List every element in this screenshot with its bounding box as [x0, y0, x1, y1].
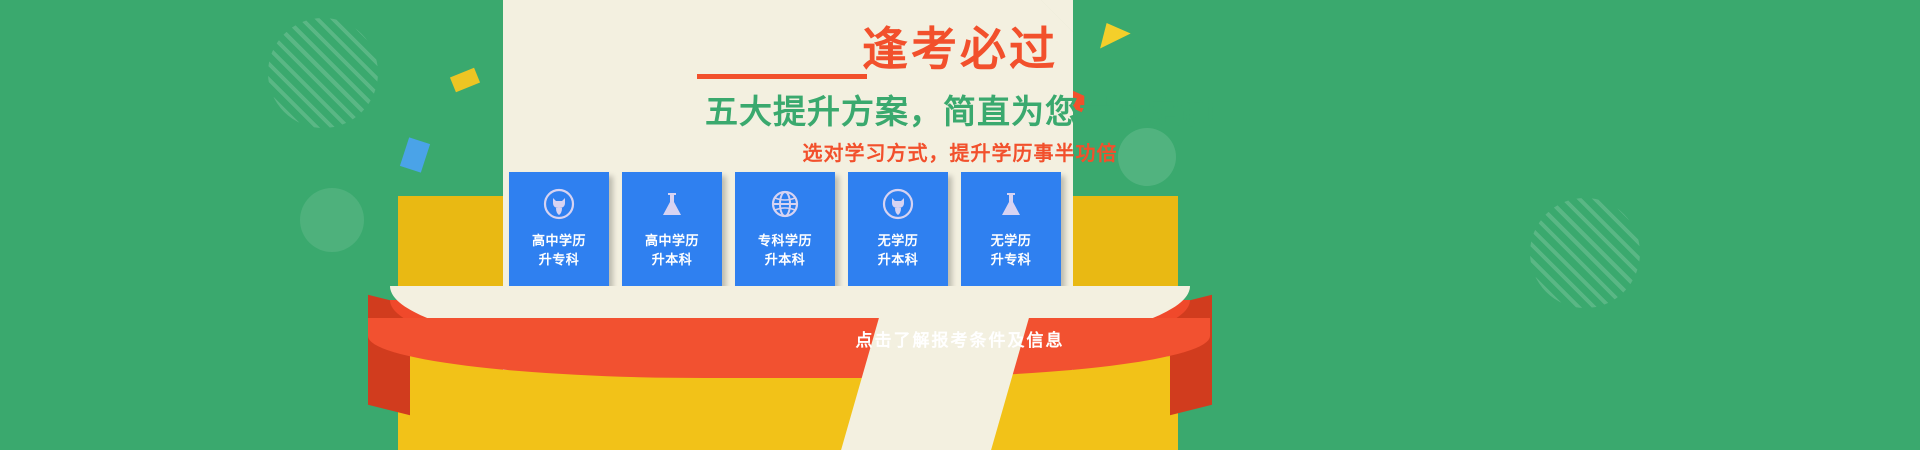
flask-icon [656, 188, 688, 220]
subtitle: 五大提升方案，简直为您量身定制 [0, 92, 1920, 132]
card-label-line2: 升专科 [991, 251, 1032, 270]
card-label-line2: 升本科 [758, 251, 812, 270]
card-label-line1: 无学历 [991, 232, 1032, 251]
card-label-line2: 升本科 [878, 251, 919, 270]
card-label-line2: 升专科 [532, 251, 586, 270]
program-card[interactable]: 高中学历 升专科 [509, 172, 609, 287]
program-card[interactable]: 专科学历 升本科 [735, 172, 835, 287]
program-card[interactable]: 无学历 升本科 [848, 172, 948, 287]
cat-icon [882, 188, 914, 220]
title-underline [697, 74, 867, 79]
promo-banner: 逢考必过 五大提升方案，简直为您量身定制 选对学习方式，提升学历事半功倍 高中学… [0, 0, 1920, 450]
globe-icon [769, 188, 801, 220]
page-title: 逢考必过 [0, 26, 1920, 72]
program-card[interactable]: 无学历 升专科 [961, 172, 1061, 287]
flask-icon [995, 188, 1027, 220]
solid-circle-decoration [300, 188, 364, 252]
tagline: 选对学习方式，提升学历事半功倍 [0, 137, 1920, 166]
card-label-line1: 专科学历 [758, 232, 812, 251]
program-card-list: 高中学历 升专科 高中学历 升本科 [509, 172, 1061, 287]
card-label-line1: 高中学历 [532, 232, 586, 251]
striped-circle-decoration [1530, 198, 1640, 308]
program-card[interactable]: 高中学历 升本科 [622, 172, 722, 287]
card-label-line2: 升本科 [645, 251, 699, 270]
cat-icon [543, 188, 575, 220]
cta-ribbon-label: 点击了解报考条件及信息 [0, 326, 1920, 351]
card-label-line1: 高中学历 [645, 232, 699, 251]
card-label-line1: 无学历 [878, 232, 919, 251]
